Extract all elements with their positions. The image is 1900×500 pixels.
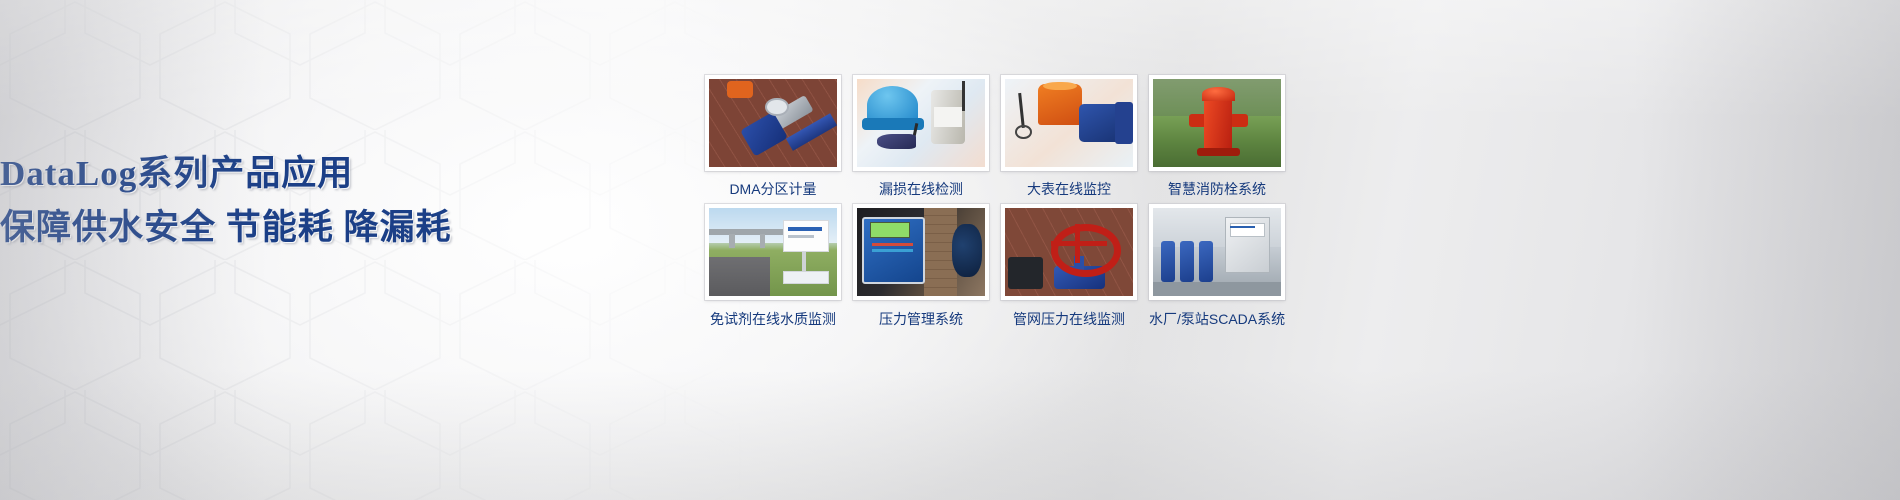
thumbnail-image-smart-fire-hydrant[interactable]	[1149, 75, 1285, 171]
thumbnail-image-waterworks-scada[interactable]	[1149, 204, 1285, 300]
product-application-banner: DataLog系列产品应用 保障供水安全 节能耗 降漏耗 DMA分区计量	[0, 0, 1900, 500]
thumbnail-image-dma-zone-metering[interactable]	[705, 75, 841, 171]
headline-line-1: DataLog系列产品应用	[0, 152, 700, 196]
thumbnail-image-leak-detection[interactable]	[853, 75, 989, 171]
thumbnail-row-1: DMA分区计量 漏损在线检测	[705, 75, 1285, 198]
application-card-dma-zone-metering[interactable]: DMA分区计量	[705, 75, 841, 198]
application-card-pressure-management[interactable]: 压力管理系统	[853, 204, 989, 328]
application-card-smart-fire-hydrant[interactable]: 智慧消防栓系统	[1149, 75, 1285, 198]
headline-line-2: 保障供水安全 节能耗 降漏耗	[0, 206, 700, 250]
application-card-waterworks-scada[interactable]: 水厂/泵站SCADA系统	[1149, 204, 1285, 328]
thumbnail-image-pressure-management[interactable]	[853, 204, 989, 300]
application-label-pressure-management: 压力管理系统	[853, 310, 989, 328]
thumbnail-image-large-meter-monitoring[interactable]	[1001, 75, 1137, 171]
application-thumbnail-grid: DMA分区计量 漏损在线检测	[705, 75, 1285, 334]
thumbnail-image-water-quality-monitoring[interactable]	[705, 204, 841, 300]
application-label-large-meter-monitoring: 大表在线监控	[1001, 180, 1137, 198]
application-label-smart-fire-hydrant: 智慧消防栓系统	[1149, 180, 1285, 198]
application-card-leak-detection[interactable]: 漏损在线检测	[853, 75, 989, 198]
application-label-water-quality-monitoring: 免试剂在线水质监测	[705, 310, 841, 328]
application-card-large-meter-monitoring[interactable]: 大表在线监控	[1001, 75, 1137, 198]
application-label-waterworks-scada: 水厂/泵站SCADA系统	[1149, 310, 1285, 328]
application-card-water-quality-monitoring[interactable]: 免试剂在线水质监测	[705, 204, 841, 328]
application-card-pipe-network-pressure[interactable]: 管网压力在线监测	[1001, 204, 1137, 328]
thumbnail-image-pipe-network-pressure[interactable]	[1001, 204, 1137, 300]
thumbnail-row-2: 免试剂在线水质监测 压力管理系统	[705, 204, 1285, 328]
hexagon-watermark-icon	[0, 0, 760, 500]
application-label-pipe-network-pressure: 管网压力在线监测	[1001, 310, 1137, 328]
application-label-leak-detection: 漏损在线检测	[853, 180, 989, 198]
application-label-dma-zone-metering: DMA分区计量	[705, 180, 841, 198]
